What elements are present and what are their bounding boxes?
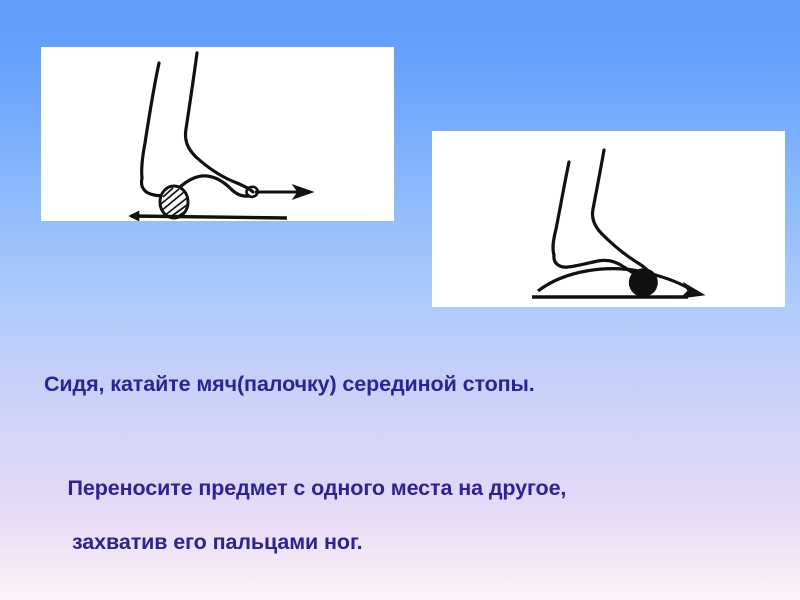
caption-carry-object-line-2: захватив его пальцами ног.	[44, 529, 684, 556]
straight-arrow-right	[255, 185, 313, 199]
lower-leg-back-line	[553, 162, 569, 255]
figure-panel-grasping-toes	[432, 131, 785, 307]
caption-carry-object: Переносите предмет с одного места на дру…	[44, 448, 684, 600]
lower-leg-front-line	[185, 53, 197, 157]
foot-rolling-ball-illustration	[41, 47, 394, 221]
curved-arrow-right	[538, 269, 704, 298]
caption-carry-object-line-1: Переносите предмет с одного места на дру…	[68, 476, 567, 500]
foot-grasping-object-illustration	[432, 131, 785, 307]
ground-line	[129, 211, 287, 221]
hatched-ball-group	[160, 186, 188, 218]
foot-sole-outline	[142, 176, 250, 196]
lower-leg-back-line	[142, 63, 159, 178]
slide-canvas: Сидя, катайте мяч(палочку) серединой сто…	[0, 0, 800, 600]
caption-roll-ball: Сидя, катайте мяч(палочку) серединой сто…	[44, 371, 744, 398]
figure-panel-rolling-ball	[41, 47, 394, 221]
lower-leg-front-line	[592, 150, 604, 234]
